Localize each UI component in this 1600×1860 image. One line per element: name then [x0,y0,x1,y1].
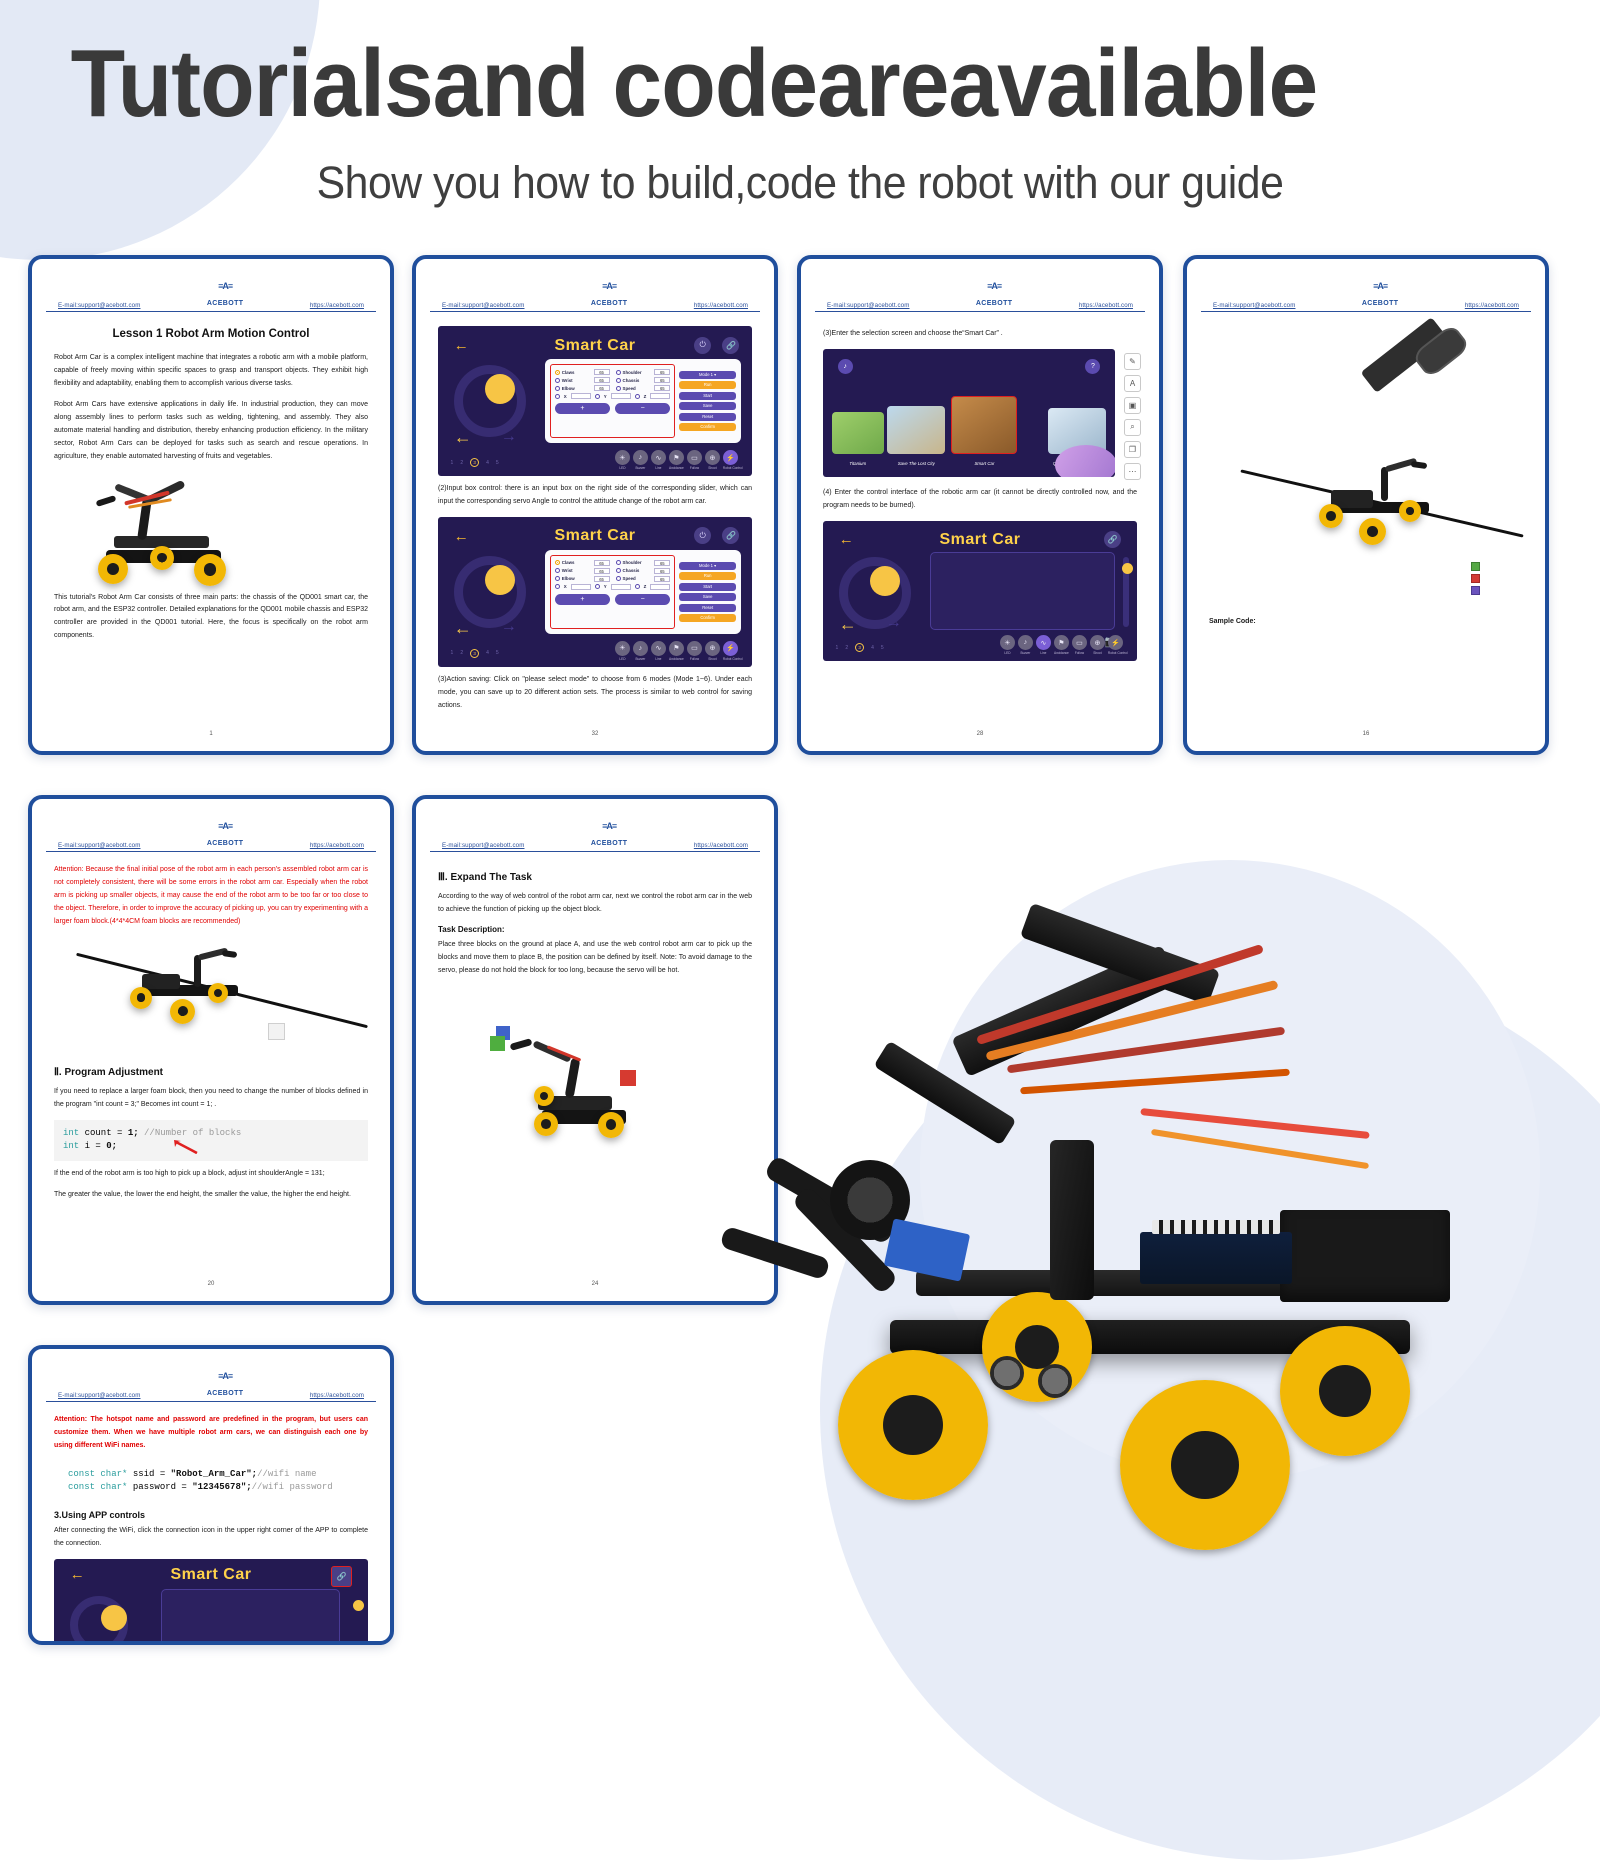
control-elbow[interactable]: Elbow65 [555,385,610,391]
power-icon[interactable]: ⏻ [694,337,711,354]
keyword-const-char-2: const char* [68,1482,127,1492]
line-icon[interactable]: ∿ [651,641,666,656]
robot-control-label: Robot Control [1108,651,1128,655]
banner-header: Tutorialsand codeareavailable Show you h… [0,0,1600,219]
link-icon[interactable]: 🔗 [722,337,739,354]
code-line-2: int i = 0; [63,1140,359,1154]
block-red [620,1070,636,1086]
value-x[interactable] [571,584,591,590]
start-button[interactable]: Start [679,392,736,400]
function-robot-control[interactable]: ⚡Robot Control [723,450,743,470]
buzzer-icon[interactable]: ♪ [1018,635,1033,650]
pager-2[interactable]: 2 [845,645,848,651]
document-card-sample-code[interactable]: E-mail:support@acebott.com ≡A≡ ACEBOTT h… [1183,255,1549,755]
pager-5[interactable]: 5 [496,460,499,466]
follow-label: Follow [1072,651,1087,655]
function-follow[interactable]: ▭Follow [687,641,702,661]
value-elbow[interactable]: 65 [594,385,610,391]
function-icon-bar: ☀LED ♪Buzzer ∿Line ⚑Avoidance ▭Follow ⊕S… [615,641,743,661]
support-email-link[interactable]: E-mail:support@acebott.com [58,1392,140,1399]
acebott-logo-name: ACEBOTT [591,840,628,847]
label-z: Z [644,394,647,399]
smart-car-connection-screenshot[interactable]: ← Smart Car 🔗 [54,1559,368,1645]
document-header: E-mail:support@acebott.com ≡A≡ ACEBOTT h… [46,267,376,312]
avoidance-icon[interactable]: ⚑ [669,641,684,656]
value-claws[interactable]: 65 [594,560,610,566]
shoulder-angle-note: If the end of the robot arm is too high … [54,1168,368,1181]
text-icon[interactable]: A [1124,375,1141,392]
shoot-icon[interactable]: ⊕ [1090,635,1105,650]
radio-elbow[interactable] [555,386,560,391]
lesson-paragraph-3: This tutorial's Robot Arm Car consists o… [54,592,368,644]
value-x[interactable] [571,393,591,399]
website-link[interactable]: https://acebott.com [310,1392,364,1399]
value-elbow[interactable]: 65 [594,576,610,582]
label-chassis: Chassis [623,568,653,573]
confirm-button[interactable]: Confirm [679,614,736,622]
value-wrist[interactable]: 65 [594,377,610,383]
tile-caption: Save The Lost City [887,461,945,466]
pager-5[interactable]: 5 [881,645,884,651]
radio-elbow[interactable] [555,576,560,581]
robot-control-icon[interactable]: ⚡ [723,641,738,656]
robot-control-icon[interactable]: ⚡ [723,450,738,465]
planet-decoration [1055,445,1115,477]
arrow-left-icon[interactable]: ← [839,615,857,633]
minus-button[interactable]: − [615,403,670,414]
side-button-column: Mode 1 ▾ Run Start Save Reset Confirm [675,555,736,629]
control-claws[interactable]: Claws65 [555,369,610,375]
minus-button[interactable]: − [615,594,670,605]
code-rest-2: i = [79,1141,106,1151]
acebott-logo: ≡A≡ ACEBOTT [591,277,628,309]
acebott-logo-name: ACEBOTT [1362,300,1399,307]
robot-car-foam-block-illustration [54,937,368,1057]
website-link[interactable]: https://acebott.com [1079,302,1133,309]
ultrasonic-sensor-left [990,1356,1024,1390]
radio-claws[interactable] [555,370,560,375]
document-body: Lesson 1 Robot Arm Motion Control Robot … [40,312,382,743]
crop-icon[interactable]: ❐ [1124,441,1141,458]
radio-chassis[interactable] [616,378,621,383]
vertical-slider-knob[interactable] [1122,563,1133,574]
height-value-note: The greater the value, the lower the end… [54,1189,368,1202]
control-speed[interactable]: Speed65 [616,576,671,582]
line-label: Line [651,657,666,661]
robot-control-icon[interactable]: ⚡ [1108,635,1123,650]
edit-icon[interactable]: ✎ [1124,353,1141,370]
function-buzzer[interactable]: ♪Buzzer [1018,635,1033,655]
follow-label: Follow [687,466,702,470]
radio-chassis[interactable] [616,568,621,573]
mode-pager[interactable]: 1 2 3 4 5 [451,649,499,658]
shoot-icon[interactable]: ⊕ [705,450,720,465]
radio-wrist[interactable] [555,568,560,573]
run-button[interactable]: Run [679,381,736,389]
shoot-label: Shoot [705,466,720,470]
pager-2[interactable]: 2 [460,650,463,656]
radio-x[interactable] [555,584,560,589]
control-elbow[interactable]: Elbow65 [555,576,610,582]
plus-minus-row: + − [555,594,671,605]
smart-car-app-screenshot-2[interactable]: ← Smart Car ⏻ 🔗 ← → Claws65 Shoulder65 W… [438,517,752,667]
page-number: 28 [809,731,1151,737]
tape-and-robot-illustration [1209,322,1523,612]
value-z[interactable] [650,393,670,399]
control-claws[interactable]: Claws65 [555,560,610,566]
control-interface-paragraph: (4) Enter the control interface of the r… [823,487,1137,513]
start-button[interactable]: Start [679,583,736,591]
radio-y[interactable] [595,584,600,589]
coordinate-row: X Y Z [555,393,671,399]
value-speed[interactable]: 65 [654,385,670,391]
tile-caption: Titanium [832,461,884,466]
link-icon[interactable]: 🔗 [331,1566,352,1587]
support-email-link[interactable]: E-mail:support@acebott.com [442,842,524,849]
arrow-right-icon[interactable]: → [886,615,902,631]
acebott-logo-mark: ≡A≡ [1373,281,1387,291]
gripper-finger-3 [719,1226,830,1281]
music-badge-icon[interactable]: ♪ [838,359,853,374]
keyword-int-2: int [63,1141,79,1151]
arrow-right-icon[interactable]: → [501,619,517,635]
joystick-knob[interactable] [485,565,515,595]
app-title: Smart Car [54,1566,368,1584]
label-claws: Claws [562,560,592,565]
support-email-link[interactable]: E-mail:support@acebott.com [58,842,140,849]
function-led[interactable]: ☀LED [1000,635,1015,655]
support-email-link[interactable]: E-mail:support@acebott.com [58,302,140,309]
input-box-paragraph: (2)Input box control: there is an input … [438,483,752,509]
acebott-logo-mark: ≡A≡ [602,281,616,291]
line-icon[interactable]: ∿ [1036,635,1051,650]
joystick-knob[interactable] [485,374,515,404]
arrow-left-icon[interactable]: ← [454,428,472,446]
block-green [490,1036,505,1051]
document-card-lesson1[interactable]: E-mail:support@acebott.com ≡A≡ ACEBOTT h… [28,255,394,755]
document-header: E-mail:support@acebott.com ≡A≡ ACEBOTT h… [46,1357,376,1402]
control-shoulder[interactable]: Shoulder65 [616,560,671,566]
website-link[interactable]: https://acebott.com [694,302,748,309]
pager-current[interactable]: 3 [470,649,479,658]
buzzer-label: Buzzer [633,657,648,661]
action-saving-paragraph: (3)Action saving: Click on "please selec… [438,674,752,713]
document-body: Ⅲ. Expand The Task According to the way … [424,852,766,1293]
pager-5[interactable]: 5 [496,650,499,656]
block-red [1471,574,1480,583]
pager-2[interactable]: 2 [460,460,463,466]
document-card-input-box[interactable]: E-mail:support@acebott.com ≡A≡ ACEBOTT h… [412,255,778,755]
lesson-paragraph-1: Robot Arm Car is a complex intelligent m… [54,352,368,391]
arrow-left-icon[interactable]: ← [454,619,472,637]
document-header: E-mail:support@acebott.com ≡A≡ ACEBOTT h… [46,807,376,852]
radio-speed[interactable] [616,576,621,581]
run-button[interactable]: Run [679,572,736,580]
selection-instruction: (3)Enter the selection screen and choose… [823,328,1137,341]
value-y[interactable] [611,393,631,399]
value-claws[interactable]: 65 [594,369,610,375]
wheel-rear-right [1280,1326,1410,1456]
label-x: X [564,584,567,589]
avoidance-icon[interactable]: ⚑ [669,450,684,465]
lesson-paragraph-2: Robot Arm Cars have extensive applicatio… [54,399,368,464]
radio-speed[interactable] [616,386,621,391]
arm-base-column [1050,1140,1094,1300]
value-z[interactable] [650,584,670,590]
page-title: Tutorialsand codeareavailable [0,34,1488,135]
function-line[interactable]: ∿Line [651,450,666,470]
function-avoidance[interactable]: ⚑Avoidance [669,450,684,470]
led-label: LED [615,466,630,470]
wifi-attention-note: Attention: The hotspot name and password… [54,1414,368,1453]
attention-note: Attention: Because the final initial pos… [54,864,368,929]
save-button[interactable]: Save [679,593,736,601]
joystick-knob[interactable] [101,1605,127,1631]
ultrasonic-sensor-right [1038,1364,1072,1398]
code-password-mid: password = [127,1482,192,1492]
page-number: 32 [424,731,766,737]
function-line[interactable]: ∿Line [651,641,666,661]
document-header: E-mail:support@acebott.com ≡A≡ ACEBOTT h… [430,267,760,312]
joystick-knob[interactable] [870,566,900,596]
pager-4[interactable]: 4 [486,650,489,656]
code-ssid-mid: ssid = [127,1469,170,1479]
wheel-front-left [838,1350,988,1500]
led-label: LED [615,657,630,661]
follow-icon[interactable]: ▭ [1072,635,1087,650]
program-adjustment-intro: If you need to replace a larger foam blo… [54,1086,368,1112]
acebott-logo-mark: ≡A≡ [218,821,232,831]
section-title-using-app-controls: 3.Using APP controls [54,1510,368,1520]
function-led[interactable]: ☀LED [615,450,630,470]
keyword-const-char: const char* [68,1469,127,1479]
page-number: 16 [1195,731,1537,737]
radio-shoulder[interactable] [616,370,621,375]
pager-1[interactable]: 1 [451,460,454,466]
pager-current[interactable]: 3 [855,643,864,652]
side-button-column: Mode 1 ▾ Run Start Save Reset Confirm [675,364,736,438]
function-follow[interactable]: ▭Follow [1072,635,1087,655]
website-link[interactable]: https://acebott.com [1465,302,1519,309]
function-avoidance[interactable]: ⚑Avoidance [1054,635,1069,655]
servo-control-grid: Claws65 Shoulder65 Wrist65 Chassis65 Elb… [555,560,671,582]
document-body: (3)Enter the selection screen and choose… [809,312,1151,743]
label-x: X [564,394,567,399]
code-value-1: 1; [128,1128,139,1138]
radio-shoulder[interactable] [616,560,621,565]
radio-z[interactable] [635,394,640,399]
document-body: Attention: The hotspot name and password… [40,1402,382,1645]
avoidance-label: Avoidance [669,657,684,661]
link-icon[interactable]: 🔗 [1104,531,1121,548]
radio-z[interactable] [635,584,640,589]
function-led[interactable]: ☀LED [615,641,630,661]
mode-pager[interactable]: 1 2 3 4 5 [836,643,884,652]
acebott-logo-mark: ≡A≡ [602,821,616,831]
code-rest-1: count = [79,1128,128,1138]
plus-button[interactable]: + [555,594,610,605]
value-chassis[interactable]: 65 [654,568,670,574]
website-link[interactable]: https://acebott.com [310,302,364,309]
page-subtitle: Show you how to build,code the robot wit… [40,157,1560,209]
help-badge-icon[interactable]: ? [1085,359,1100,374]
control-wrist[interactable]: Wrist65 [555,568,610,574]
value-shoulder[interactable]: 65 [654,560,670,566]
confirm-button[interactable]: Confirm [679,423,736,431]
reset-button[interactable]: Reset [679,604,736,612]
function-follow[interactable]: ▭Follow [687,450,702,470]
sample-code-caption: Sample Code: [1209,616,1523,629]
avoidance-label: Avoidance [669,466,684,470]
page-number: 20 [40,1281,382,1287]
radio-y[interactable] [595,394,600,399]
mode-pager[interactable]: 1 2 3 4 5 [451,458,499,467]
more-icon[interactable]: ⋯ [1124,463,1141,480]
pager-1[interactable]: 1 [451,650,454,656]
servo-control-panel: Claws65 Shoulder65 Wrist65 Chassis65 Elb… [545,550,741,634]
value-chassis[interactable]: 65 [654,377,670,383]
radio-x[interactable] [555,394,560,399]
acebott-logo-name: ACEBOTT [976,300,1013,307]
selection-screenshot[interactable]: ♪ ? Titanium Save The Lost City Smart Ca… [823,349,1115,477]
mode-select-button[interactable]: Mode 1 ▾ [679,371,736,379]
reset-button[interactable]: Reset [679,413,736,421]
plus-button[interactable]: + [555,403,610,414]
control-chassis[interactable]: Chassis65 [616,377,671,383]
servo-motor-blue [884,1218,970,1281]
camera-view-area[interactable] [161,1589,340,1645]
function-shoot[interactable]: ⊕Shoot [705,450,720,470]
page-number: 1 [40,731,382,737]
label-y: Y [604,584,607,589]
code-block-count: int count = 1; //Number of blocks int i … [54,1120,368,1161]
support-email-link[interactable]: E-mail:support@acebott.com [442,302,524,309]
radio-wrist[interactable] [555,378,560,383]
pager-4[interactable]: 4 [486,460,489,466]
arrow-right-icon[interactable]: → [501,429,517,445]
robot-arm-car-task-photo [438,986,752,1156]
document-card-selection[interactable]: E-mail:support@acebott.com ≡A≡ ACEBOTT h… [797,255,1163,755]
shoot-label: Shoot [705,657,720,661]
function-line[interactable]: ∿Line [1036,635,1051,655]
smart-car-blank-screenshot[interactable]: ← Smart Car 🔗 ← → 📷 1 2 3 4 5 [823,521,1137,661]
pager-1[interactable]: 1 [836,645,839,651]
function-buzzer[interactable]: ♪Buzzer [633,450,648,470]
code-password-value: "12345678"; [192,1482,251,1492]
highlight-box: Claws65 Shoulder65 Wrist65 Chassis65 Elb… [550,364,676,438]
control-chassis[interactable]: Chassis65 [616,568,671,574]
smart-car-app-screenshot-1[interactable]: ← Smart Car ⏻ 🔗 ← → Claws65 Shoulder65 W… [438,326,752,476]
game-tile-titanium[interactable]: Titanium [832,412,884,454]
wheel-rear-left [1120,1380,1290,1550]
label-wrist: Wrist [562,378,592,383]
block-purple [1471,586,1480,595]
acebott-logo: ≡A≡ ACEBOTT [1362,277,1399,309]
label-y: Y [604,394,607,399]
document-header: E-mail:support@acebott.com ≡A≡ ACEBOTT h… [430,807,760,852]
support-email-link[interactable]: E-mail:support@acebott.com [827,302,909,309]
pager-current[interactable]: 3 [470,458,479,467]
follow-label: Follow [687,657,702,661]
task-description-body: Place three blocks on the ground at plac… [438,939,752,978]
document-card-program-adjustment[interactable]: E-mail:support@acebott.com ≡A≡ ACEBOTT h… [28,795,394,1305]
avoidance-label: Avoidance [1054,651,1069,655]
label-elbow: Elbow [562,576,592,581]
label-claws: Claws [562,370,592,375]
search-icon[interactable]: ⌕ [1124,419,1141,436]
camera-view-area[interactable] [930,552,1115,630]
pager-4[interactable]: 4 [871,645,874,651]
document-card-wifi-app-controls[interactable]: E-mail:support@acebott.com ≡A≡ ACEBOTT h… [28,1345,394,1645]
buzzer-label: Buzzer [1018,651,1033,655]
acebott-logo-mark: ≡A≡ [218,281,232,291]
task-description-label: Task Description: [438,925,752,934]
led-icon[interactable]: ☀ [615,450,630,465]
app-controls-body: After connecting the WiFi, click the con… [54,1525,368,1551]
function-shoot[interactable]: ⊕Shoot [705,641,720,661]
buzzer-icon[interactable]: ♪ [633,641,648,656]
game-tile-smart-car[interactable]: Smart Car [951,396,1017,454]
line-label: Line [651,466,666,470]
document-body: Attention: Because the final initial pos… [40,852,382,1293]
function-avoidance[interactable]: ⚑Avoidance [669,641,684,661]
buzzer-label: Buzzer [633,466,648,470]
acebott-logo: ≡A≡ ACEBOTT [207,817,244,849]
value-shoulder[interactable]: 65 [654,369,670,375]
section-title-expand-task: Ⅲ. Expand The Task [438,872,752,883]
radio-claws[interactable] [555,560,560,565]
value-speed[interactable]: 65 [654,576,670,582]
value-y[interactable] [611,584,631,590]
value-wrist[interactable]: 65 [594,568,610,574]
avoidance-icon[interactable]: ⚑ [1054,635,1069,650]
follow-icon[interactable]: ▭ [687,450,702,465]
acebott-logo-name: ACEBOTT [591,300,628,307]
code-line-1: int count = 1; //Number of blocks [63,1127,359,1141]
acebott-logo-mark: ≡A≡ [987,281,1001,291]
led-icon[interactable]: ☀ [1000,635,1015,650]
plus-minus-row: + − [555,403,671,414]
copy-icon[interactable]: ▣ [1124,397,1141,414]
vertical-slider-knob[interactable] [353,1600,364,1611]
control-speed[interactable]: Speed65 [616,385,671,391]
game-tile-save-the-lost-city[interactable]: Save The Lost City [887,406,945,454]
control-shoulder[interactable]: Shoulder65 [616,369,671,375]
function-buzzer[interactable]: ♪Buzzer [633,641,648,661]
battery-box [1280,1210,1450,1302]
function-shoot[interactable]: ⊕Shoot [1090,635,1105,655]
label-z: Z [644,584,647,589]
label-speed: Speed [623,386,653,391]
section-title-program-adjustment: Ⅱ. Program Adjustment [54,1067,368,1078]
buzzer-icon[interactable]: ♪ [633,450,648,465]
follow-icon[interactable]: ▭ [687,641,702,656]
control-wrist[interactable]: Wrist65 [555,377,610,383]
line-icon[interactable]: ∿ [651,450,666,465]
esp32-controller-board [1140,1232,1292,1284]
function-robot-control[interactable]: ⚡Robot Control [723,641,743,661]
expand-task-intro: According to the way of web control of t… [438,891,752,917]
support-email-link[interactable]: E-mail:support@acebott.com [1213,302,1295,309]
shoot-icon[interactable]: ⊕ [705,641,720,656]
function-robot-control[interactable]: ⚡Robot Control [1108,635,1128,655]
led-icon[interactable]: ☀ [615,641,630,656]
code-password-comment: //wifi password [252,1482,333,1492]
mode-select-button[interactable]: Mode 1 ▾ [679,562,736,570]
document-body: Sample Code: 16 [1195,312,1537,743]
save-button[interactable]: Save [679,402,736,410]
website-link[interactable]: https://acebott.com [310,842,364,849]
